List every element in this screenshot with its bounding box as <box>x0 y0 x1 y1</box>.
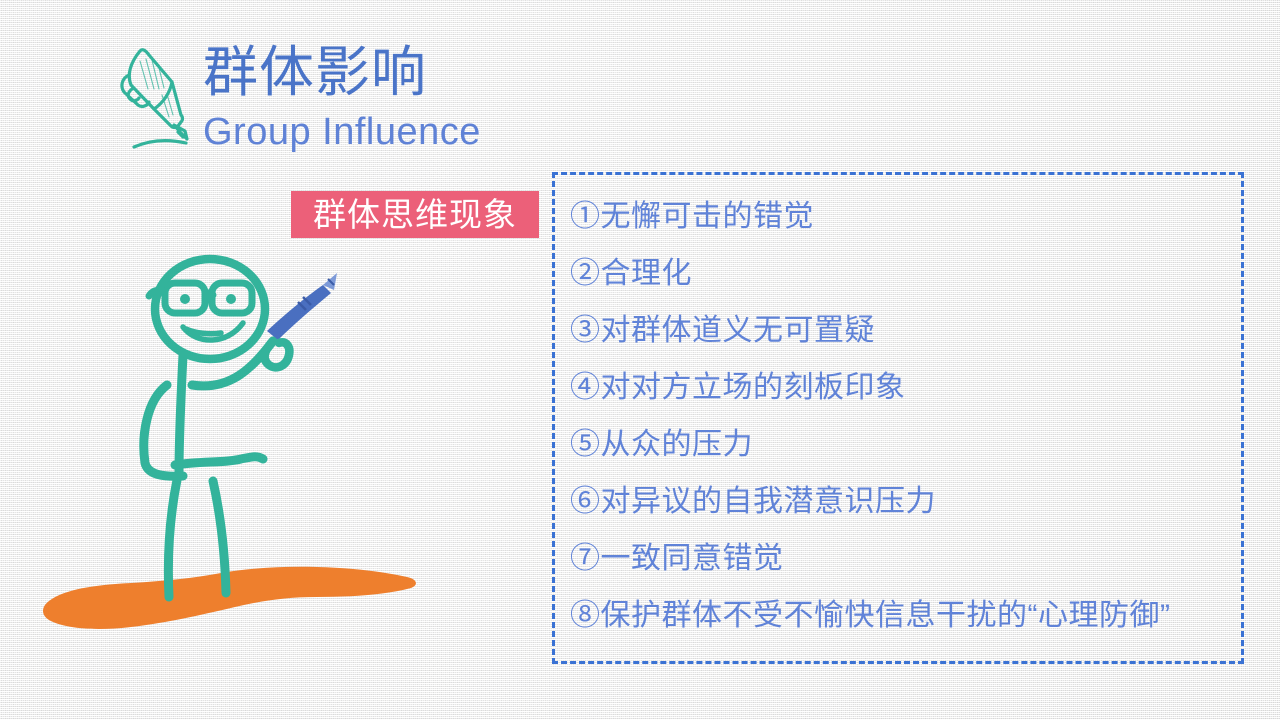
list-item: ③对群体道义无可置疑 <box>570 302 1250 359</box>
blue-fountain-pen <box>267 273 337 340</box>
section-badge: 群体思维现象 <box>291 191 539 238</box>
list-item: ⑤从众的压力 <box>570 416 1250 473</box>
glasses <box>149 283 252 313</box>
pen-hand <box>265 341 290 367</box>
left-eye <box>180 294 190 304</box>
right-eye <box>226 294 236 304</box>
list-item: ⑥对异议的自我潜意识压力 <box>570 473 1250 530</box>
list-item: ④对对方立场的刻板印象 <box>570 359 1250 416</box>
smiling-mouth <box>183 323 243 340</box>
hip-line <box>175 457 263 465</box>
list-item: ⑦一致同意错觉 <box>570 530 1250 587</box>
section-badge-label: 群体思维现象 <box>313 198 517 231</box>
list-item: ⑧保护群体不受不愉快信息干扰的“心理防御” <box>570 587 1250 644</box>
groupthink-symptom-list: ①无懈可击的错觉 ②合理化 ③对群体道义无可置疑 ④对对方立场的刻板印象 ⑤从众… <box>570 188 1250 644</box>
right-arm <box>192 341 273 386</box>
left-leg <box>168 480 177 597</box>
slide-canvas: 群体影响 Group Influence 群体思维现象 ①无懈可击的错觉 ②合理… <box>0 0 1280 720</box>
title-block: 群体影响 Group Influence <box>203 38 723 156</box>
torso <box>179 355 183 473</box>
stick-figure-illustration <box>35 245 435 645</box>
fountain-pen-icon <box>114 33 206 161</box>
list-item: ②合理化 <box>570 245 1250 302</box>
page-title-cn: 群体影响 <box>203 38 723 106</box>
page-subtitle-en: Group Influence <box>203 108 723 156</box>
list-item: ①无懈可击的错觉 <box>570 188 1250 245</box>
